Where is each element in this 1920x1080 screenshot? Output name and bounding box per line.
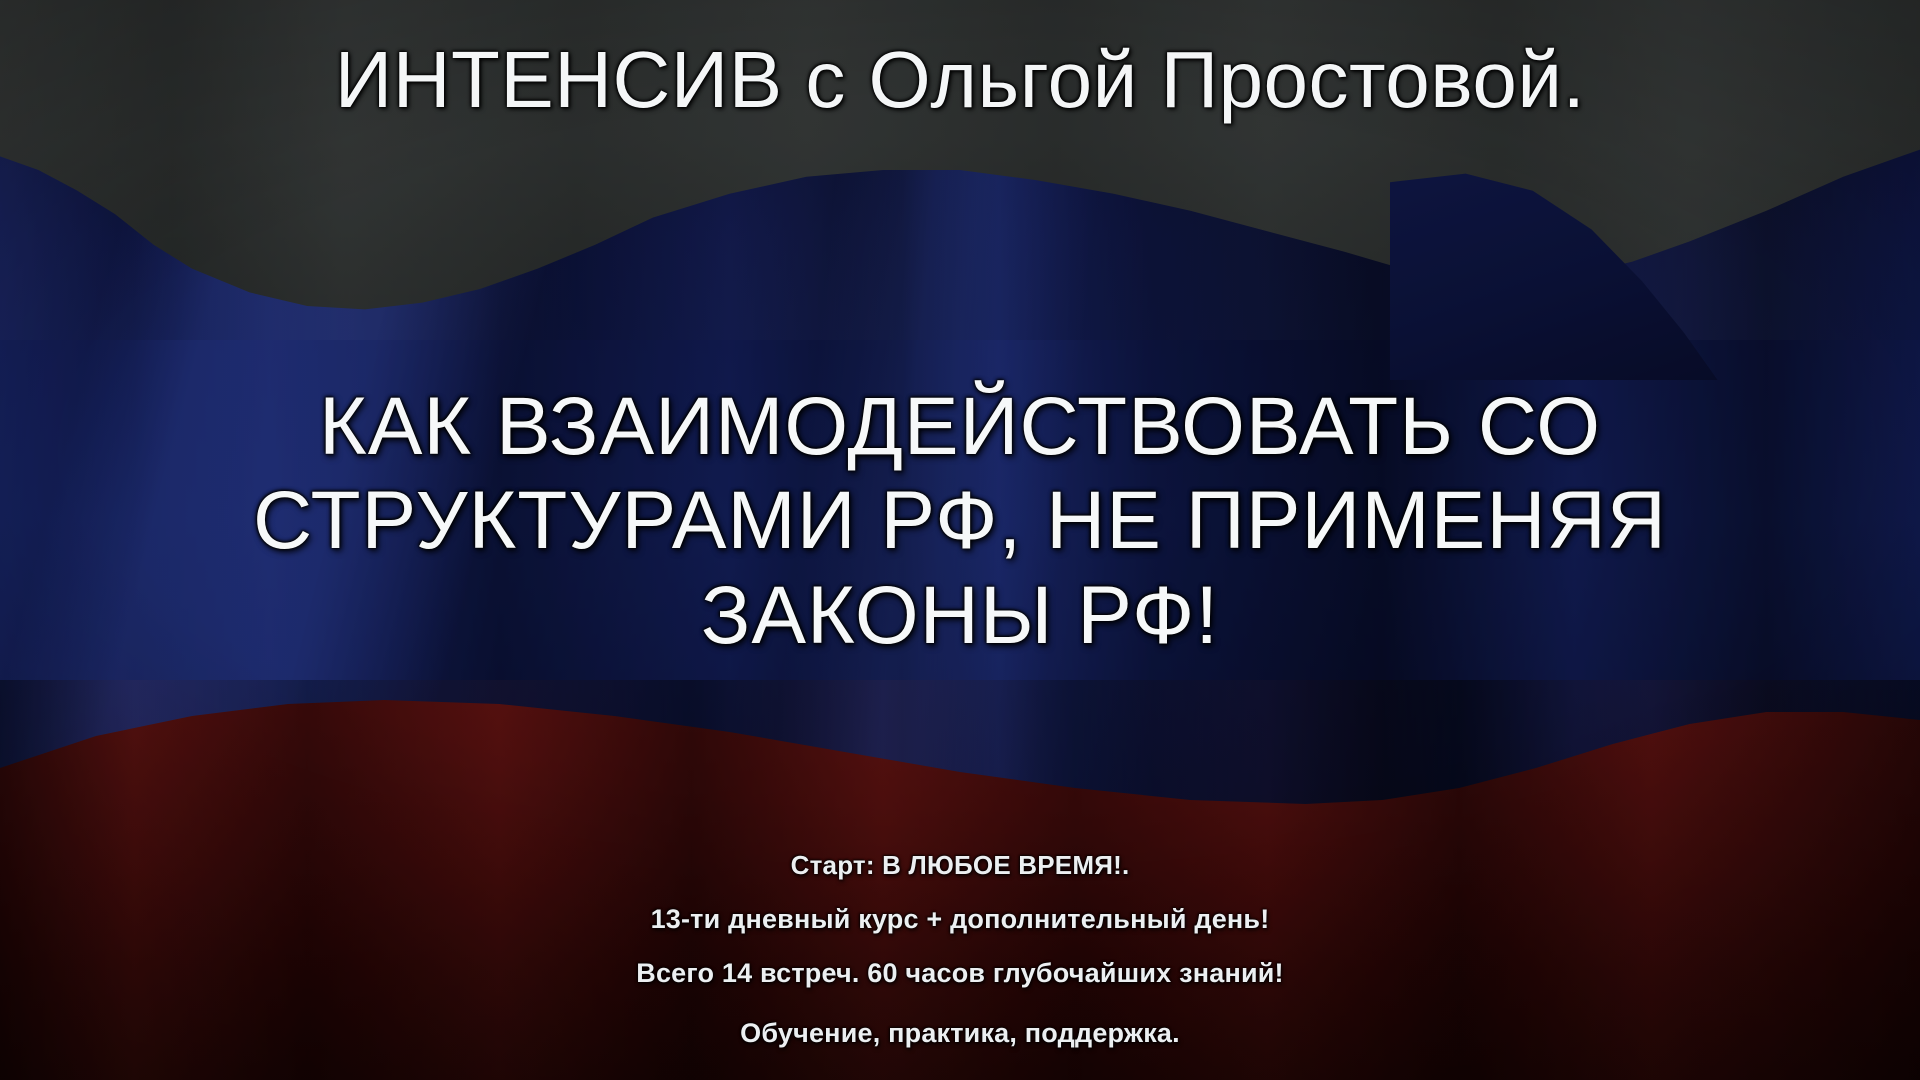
detail-course-length: 13-ти дневный курс + дополнительный день… [0,892,1920,946]
promo-banner: ИНТЕНСИВ с Ольгой Простовой. КАК ВЗАИМОД… [0,0,1920,1080]
banner-text-layer: ИНТЕНСИВ с Ольгой Простовой. КАК ВЗАИМОД… [0,0,1920,1080]
page-title-line-3: ЗАКОНЫ РФ! [0,569,1920,663]
detail-format: Обучение, практика, поддержка. [0,1006,1920,1060]
detail-start-date: Старт: В ЛЮБОЕ ВРЕМЯ!. [0,838,1920,892]
page-title-line-1: КАК ВЗАИМОДЕЙСТВОВАТЬ СО [0,380,1920,474]
course-kicker-title: ИНТЕНСИВ с Ольгой Простовой. [0,34,1920,126]
page-title: КАК ВЗАИМОДЕЙСТВОВАТЬ СО СТРУКТУРАМИ РФ,… [0,380,1920,663]
page-title-line-2: СТРУКТУРАМИ РФ, НЕ ПРИМЕНЯЯ [0,474,1920,568]
detail-sessions-hours: Всего 14 встреч. 60 часов глубочайших зн… [0,946,1920,1000]
course-details-list: Старт: В ЛЮБОЕ ВРЕМЯ!. 13-ти дневный кур… [0,838,1920,1060]
